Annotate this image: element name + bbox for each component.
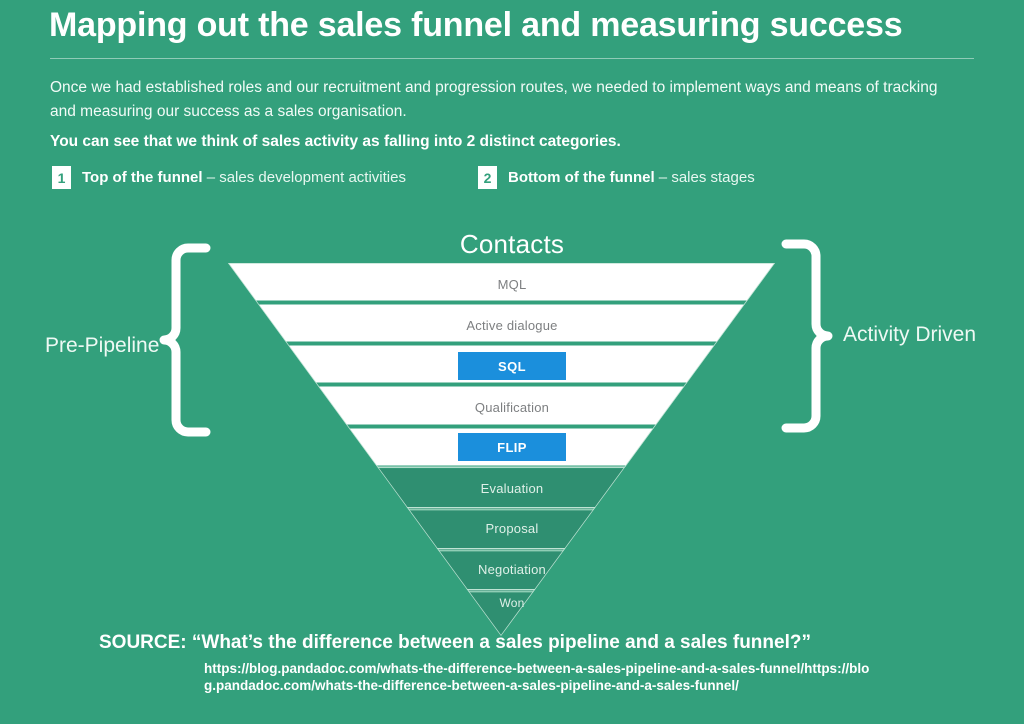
category-dash-1: –	[203, 169, 220, 186]
lead-statement: You can see that we think of sales activ…	[50, 133, 621, 151]
funnel-separator-7b	[180, 509, 860, 510]
funnel-stage-qualification: Qualification	[0, 400, 1024, 415]
right-brace-icon	[786, 244, 828, 428]
source-url[interactable]: https://blog.pandadoc.com/whats-the-diff…	[204, 660, 876, 694]
category-detail-2: sales stages	[671, 169, 754, 186]
category-item-2: 2 Bottom of the funnel – sales stages	[478, 166, 755, 189]
slide-root: Mapping out the sales funnel and measuri…	[0, 0, 1024, 724]
intro-paragraph: Once we had established roles and our re…	[50, 76, 960, 124]
category-title-2: Bottom of the funnel	[508, 169, 655, 186]
funnel-separator-3	[180, 383, 860, 387]
pre-pipeline-label: Pre-Pipeline	[45, 334, 159, 358]
funnel-separator-9	[180, 589, 860, 590]
category-dash-2: –	[655, 169, 672, 186]
category-badge-2: 2	[478, 166, 497, 189]
funnel-stage-proposal: Proposal	[0, 521, 1024, 536]
funnel-separator-9b	[180, 591, 860, 592]
source-heading: SOURCE: “What’s the difference between a…	[99, 632, 811, 654]
category-label-1: Top of the funnel – sales development ac…	[82, 169, 406, 186]
funnel-stage-evaluation: Evaluation	[0, 481, 1024, 496]
funnel-separator-5	[180, 466, 860, 469]
funnel-lower-fill	[200, 467, 820, 647]
left-brace-icon	[164, 248, 206, 432]
category-item-1: 1 Top of the funnel – sales development …	[52, 166, 406, 189]
funnel-stage-negotiation: Negotiation	[0, 562, 1024, 577]
title-divider	[50, 58, 974, 59]
page-title: Mapping out the sales funnel and measuri…	[49, 6, 902, 45]
funnel-separator-4	[180, 425, 860, 429]
funnel-stage-flip-chip: FLIP	[458, 433, 566, 461]
activity-driven-label: Activity Driven	[843, 323, 976, 347]
funnel-stage-sql-chip: SQL	[458, 352, 566, 380]
funnel-separator-2	[180, 342, 860, 346]
funnel-separator-6	[180, 467, 860, 468]
funnel-separator-7	[180, 507, 860, 508]
funnel-separator-1	[180, 301, 860, 305]
funnel-stage-mql: MQL	[0, 277, 1024, 292]
funnel-separator-8b	[180, 550, 860, 551]
funnel-stage-won: Won	[0, 596, 1024, 610]
category-label-2: Bottom of the funnel – sales stages	[508, 169, 755, 186]
category-badge-1: 1	[52, 166, 71, 189]
category-detail-1: sales development activities	[219, 169, 406, 186]
funnel-separator-8	[180, 548, 860, 549]
category-title-1: Top of the funnel	[82, 169, 203, 186]
funnel-top-label: Contacts	[0, 229, 1024, 260]
